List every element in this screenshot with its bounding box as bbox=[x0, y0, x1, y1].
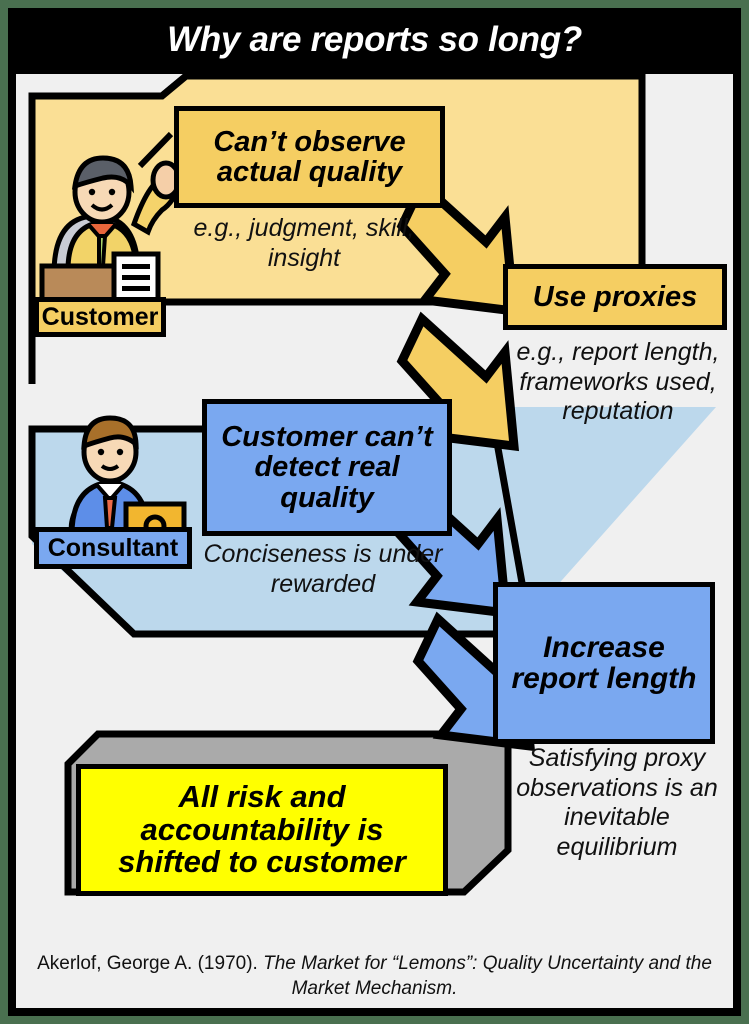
increase-length-detail: Satisfying proxy observations is an inev… bbox=[503, 744, 731, 862]
consultant-tag-label: Consultant bbox=[48, 534, 179, 563]
use-proxies-detail: e.g., report length, frameworks used, re… bbox=[503, 338, 733, 427]
poster-frame: Why are reports so long? bbox=[8, 8, 741, 1016]
cant-observe-label: Can’t observe actual quality bbox=[187, 127, 432, 188]
citation-author: Akerlof, George A. (1970). bbox=[37, 953, 258, 974]
conclusion-box: All risk and accountability is shifted t… bbox=[76, 764, 448, 896]
customer-tag: Customer bbox=[34, 297, 166, 337]
citation: Akerlof, George A. (1970). The Market fo… bbox=[16, 951, 733, 1002]
cant-detect-label: Customer can’t detect real quality bbox=[213, 422, 441, 513]
consultant-tag: Consultant bbox=[34, 527, 192, 569]
title-bar: Why are reports so long? bbox=[8, 8, 741, 72]
use-proxies-box: Use proxies bbox=[503, 264, 727, 330]
cant-detect-box: Customer can’t detect real quality bbox=[202, 399, 452, 536]
use-proxies-label: Use proxies bbox=[533, 282, 697, 312]
cant-observe-box: Can’t observe actual quality bbox=[174, 106, 445, 208]
conclusion-label: All risk and accountability is shifted t… bbox=[89, 781, 435, 879]
diagram-root: Why are reports so long? bbox=[0, 0, 749, 1024]
cant-detect-detail: Conciseness is under rewarded bbox=[198, 540, 448, 599]
diagram-canvas: Customer Can’t observe actual quality e.… bbox=[16, 74, 733, 1008]
cant-observe-detail: e.g., judgment, skill, insight bbox=[174, 214, 434, 273]
increase-length-label: Increase report length bbox=[498, 632, 710, 695]
page-title: Why are reports so long? bbox=[167, 20, 582, 60]
citation-work: The Market for “Lemons”: Quality Uncerta… bbox=[263, 953, 712, 1000]
increase-length-box: Increase report length bbox=[493, 582, 715, 744]
customer-tag-label: Customer bbox=[42, 303, 159, 332]
